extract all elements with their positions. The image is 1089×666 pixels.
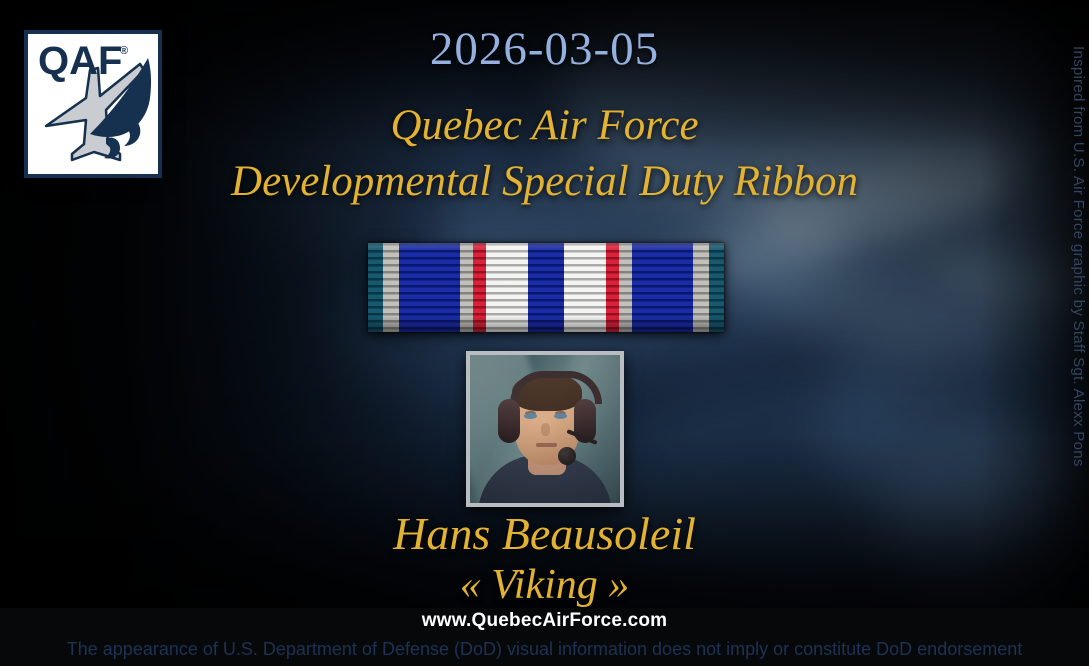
ribbon-stripe-silver-left — [383, 243, 399, 332]
recipient-name-block: Hans Beausoleil « Viking » — [0, 508, 1089, 610]
page-title: Quebec Air Force Developmental Special D… — [0, 98, 1089, 210]
award-card: QAF ® 2026-03-05 Quebec Air Force Develo… — [0, 0, 1089, 666]
graphic-credit: Inspired from U.S. Air Force graphic by … — [1070, 46, 1087, 467]
portrait-light-overlay — [470, 355, 620, 503]
recipient-callsign: « Viking » — [0, 560, 1089, 610]
ribbon-stripe-teal-edge-right — [709, 243, 724, 332]
ribbon-stripe-red-right — [606, 243, 619, 332]
ribbon-stripe-white-left — [486, 243, 528, 332]
ribbon-stripe-silver-3 — [619, 243, 632, 332]
recipient-portrait — [466, 351, 624, 507]
ribbon-stripe-teal-edge-left — [368, 243, 383, 332]
award-date: 2026-03-05 — [0, 22, 1089, 76]
ribbon-stripe-blue-left — [399, 243, 460, 332]
title-line-1: Quebec Air Force — [0, 98, 1089, 154]
ribbon-stripe-silver-right — [693, 243, 709, 332]
ribbon-stripe-red-left — [473, 243, 486, 332]
recipient-name: Hans Beausoleil — [0, 508, 1089, 560]
service-ribbon — [368, 243, 724, 332]
ribbon-stripe-blue-right — [632, 243, 693, 332]
ribbon-stripe-white-right — [564, 243, 606, 332]
ribbon-stripe-silver-2 — [460, 243, 473, 332]
dod-disclaimer: The appearance of U.S. Department of Def… — [0, 639, 1089, 660]
portrait-image — [470, 355, 620, 503]
website-url[interactable]: www.QuebecAirForce.com — [0, 610, 1089, 632]
title-line-2: Developmental Special Duty Ribbon — [0, 154, 1089, 210]
ribbon-stripe-blue-center — [528, 243, 565, 332]
